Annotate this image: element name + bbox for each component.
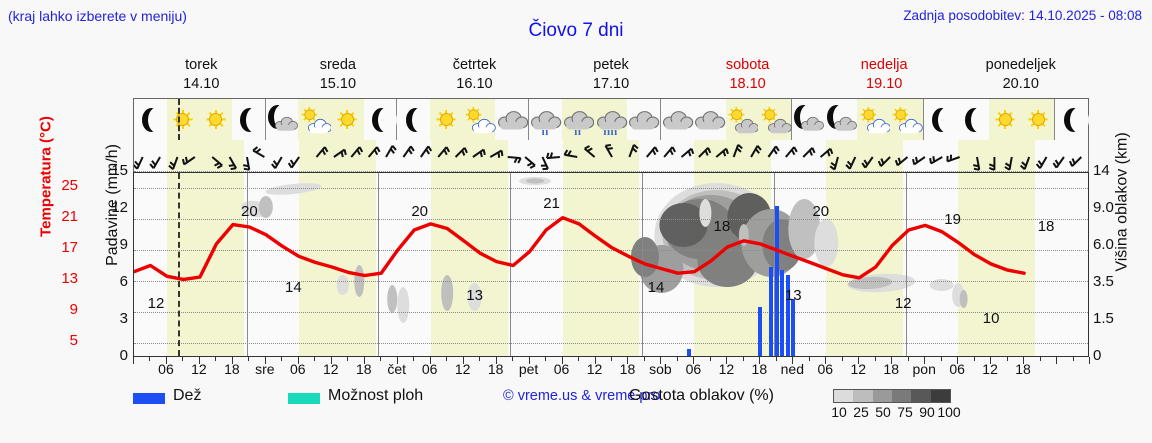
x-axis-label: 12 [587,361,603,377]
chart-legend: Dež Možnost ploh © vreme.us & vreme.pro … [133,387,1143,421]
cloud-density-legend-title: Gostota oblakov (%) [629,387,774,405]
weather-icon-band: ıııııııı [133,98,1089,140]
forecast-plot-area: 122014201321141813201219101812 [133,172,1089,357]
rain-legend-label: Dež [173,387,201,405]
day-date: 14.10 [133,75,270,94]
x-axis-label: 06 [686,361,702,377]
day-header-petek: petek17.10 [543,56,680,96]
weather-icon-slot [956,99,989,140]
sun-cloud-grey-icon [727,105,757,135]
sun-cloud-blue-icon [891,105,921,135]
cloud-density-tick-label: 100 [937,404,960,420]
cloud-height-tick-label: 0 [1093,347,1135,364]
day-header-row: torek14.10sreda15.10četrtek16.10petek17.… [133,56,1089,96]
precipitation-tick-label: 15 [104,162,128,179]
cloud-density-tick-label: 10 [831,404,847,420]
page-title: Čiovo 7 dni [0,20,1152,42]
temperature-point-label: 13 [466,287,483,304]
x-axis-label: 12 [191,361,207,377]
current-time-marker [178,99,180,140]
temperature-point-label: 10 [983,310,1000,327]
temperature-point-label: 20 [411,203,428,220]
day-name: sreda [270,56,407,75]
precipitation-tick-label: 0 [104,347,128,364]
x-axis-label: pet [519,361,538,377]
day-date: 19.10 [816,75,953,94]
temperature-point-label: 18 [1038,218,1055,235]
x-axis-label: 12 [850,361,866,377]
weather-icon-slot [989,99,1022,140]
weather-icon-slot [495,99,529,140]
weather-icon-slot [661,99,694,140]
weather-icon-slot [430,99,463,140]
cloud-density-swatch [834,390,853,402]
sun-icon [1023,105,1053,135]
x-axis-label: 12 [719,361,735,377]
weather-icon-slot: ıı [529,99,562,140]
temperature-point-label: 13 [785,287,802,304]
weather-icon-slot [397,99,430,140]
x-axis-label: pon [912,361,935,377]
day-date: 20.10 [952,75,1089,94]
day-header-sreda: sreda15.10 [270,56,407,96]
temperature-point-label: 12 [895,295,912,312]
day-date: 17.10 [543,75,680,94]
weather-icon-slot [1055,99,1088,140]
day-header-nedelja: nedelja19.10 [816,56,953,96]
cloud-density-swatch [853,390,872,402]
cloud-rain-icon: ıı [530,105,560,135]
cloud-height-tick-label: 3.5 [1093,273,1135,290]
x-axis-label: 18 [752,361,768,377]
temperature-point-label: 20 [812,203,829,220]
x-axis-label: 18 [488,361,504,377]
cloud-rain-icon: ıı [563,105,593,135]
showers-legend-label: Možnost ploh [328,387,423,405]
weather-icon-slot [232,99,266,140]
weather-icon-slot [298,99,331,140]
day-name: četrtek [406,56,543,75]
temperature-point-label: 14 [285,279,302,296]
cloud-density-swatch [911,390,930,402]
day-date: 18.10 [679,75,816,94]
x-axis-label: 18 [883,361,899,377]
precipitation-tick-label: 12 [104,199,128,216]
moon-icon [135,105,165,135]
moon-icon [1057,105,1087,135]
day-header-četrtek: četrtek16.10 [406,56,543,96]
sun-cloud-blue-icon [300,105,330,135]
weather-icon-slot [758,99,792,140]
precipitation-tick-label: 6 [104,273,128,290]
moon-cloud-icon [267,105,297,135]
day-date: 16.10 [406,75,543,94]
sun-icon [431,105,461,135]
rain-drops-icon: ıı [542,128,549,136]
day-header-ponedeljek: ponedeljek20.10 [952,56,1089,96]
cloud-density-color-ramp [833,389,951,403]
cloud-density-tick-label: 90 [919,404,935,420]
x-axis-labels: 061218sre061218čet061218pet061218sob0612… [133,361,1089,379]
sun-cloud-grey-icon [760,105,790,135]
sun-icon [168,105,198,135]
cloud-density-swatch [892,390,911,402]
temperature-point-label: 18 [714,218,731,235]
x-axis-label: ned [781,361,804,377]
cloud-density-swatch [873,390,892,402]
temperature-point-label: 20 [241,203,258,220]
x-axis-label: 06 [290,361,306,377]
cloud-height-tick-label: 1.5 [1093,310,1135,327]
rain-legend-swatch [133,393,165,404]
cloud-icon [628,105,658,135]
weather-icon-slot [627,99,661,140]
moon-icon [958,105,988,135]
temperature-tick-label: 17 [44,239,78,256]
x-axis-label: 18 [620,361,636,377]
moon-cloud-icon [826,105,856,135]
day-name: ponedeljek [952,56,1089,75]
weather-icon-slot [726,99,759,140]
cloud-density-tick-label: 75 [897,404,913,420]
temperature-point-label: 21 [543,195,560,212]
x-axis-label: 06 [158,361,174,377]
weather-icon-slot [924,99,957,140]
day-name: sobota [679,56,816,75]
rain-drops-icon: ıııı [603,128,617,136]
moon-icon [399,105,429,135]
cloud-height-tick-label: 6.0 [1093,236,1135,253]
sun-cloud-blue-icon [464,105,494,135]
x-axis-label: sre [255,361,274,377]
day-header-torek: torek14.10 [133,56,270,96]
moon-icon [925,105,955,135]
weather-icon-slot: ıı [562,99,595,140]
weather-icon-slot [463,99,496,140]
precipitation-tick-label: 3 [104,310,128,327]
x-axis-label: 18 [356,361,372,377]
temperature-point-label: 12 [148,295,165,312]
x-axis-tick [1089,357,1090,364]
cloud-rain-icon: ıııı [596,105,626,135]
weather-icon-slot: ıııı [594,99,627,140]
moon-icon [365,105,395,135]
weather-icon-slot [364,99,398,140]
temperature-tick-label: 25 [44,177,78,194]
cloud-density-tick-label: 50 [875,404,891,420]
temperature-tick-label: 9 [44,301,78,318]
wind-barbs [134,140,1089,172]
x-axis-label: čet [387,361,406,377]
x-axis-label: 12 [982,361,998,377]
weather-icon-slot [199,99,232,140]
day-name: torek [133,56,270,75]
sun-icon [201,105,231,135]
showers-legend-swatch [288,393,320,404]
wind-barb-band [133,140,1089,172]
sun-icon [332,105,362,135]
x-axis-label: 12 [455,361,471,377]
sun-cloud-blue-icon [859,105,889,135]
x-axis-label: sob [649,361,672,377]
x-axis-label: 06 [422,361,438,377]
x-axis-label: 06 [554,361,570,377]
x-axis-label: 06 [949,361,965,377]
x-axis-label: 18 [1015,361,1031,377]
cloud-icon [694,105,724,135]
cloud-density-tick-label: 25 [853,404,869,420]
sun-icon [990,105,1020,135]
x-axis-label: 06 [817,361,833,377]
temperature-tick-label: 5 [44,332,78,349]
rain-drops-icon: ıı [574,128,581,136]
weather-icon-slot [890,99,924,140]
x-axis-label: 18 [224,361,240,377]
weather-forecast-page: { "header": { "left_note": "(kraj lahko … [0,0,1152,443]
weather-icon-slot [167,99,200,140]
day-name: petek [543,56,680,75]
cloud-icon [662,105,692,135]
cloud-icon [497,105,527,135]
weather-icon-slot [134,99,167,140]
day-name: nedelja [816,56,953,75]
cloud-density-tick-labels: 1025507590100 [827,404,959,422]
weather-icon-slot [331,99,364,140]
temperature-tick-label: 13 [44,270,78,287]
weather-icon-slot [266,99,299,140]
moon-icon [233,105,263,135]
cloud-height-tick-label: 14 [1093,162,1135,179]
temperature-curve [134,173,1089,357]
temperature-point-label: 19 [944,211,961,228]
day-header-sobota: sobota18.10 [679,56,816,96]
day-date: 15.10 [270,75,407,94]
cloud-height-tick-label: 9.0 [1093,199,1135,216]
precipitation-tick-label: 9 [104,236,128,253]
weather-icon-slot [792,99,825,140]
temperature-point-label: 14 [648,279,665,296]
cloud-density-swatch [931,390,950,402]
x-axis-label: 12 [323,361,339,377]
weather-icon-slot [825,99,858,140]
moon-cloud-icon [793,105,823,135]
weather-icon-slot [693,99,726,140]
temperature-tick-label: 21 [44,208,78,225]
weather-icon-slot [1022,99,1056,140]
weather-icon-slot [857,99,890,140]
